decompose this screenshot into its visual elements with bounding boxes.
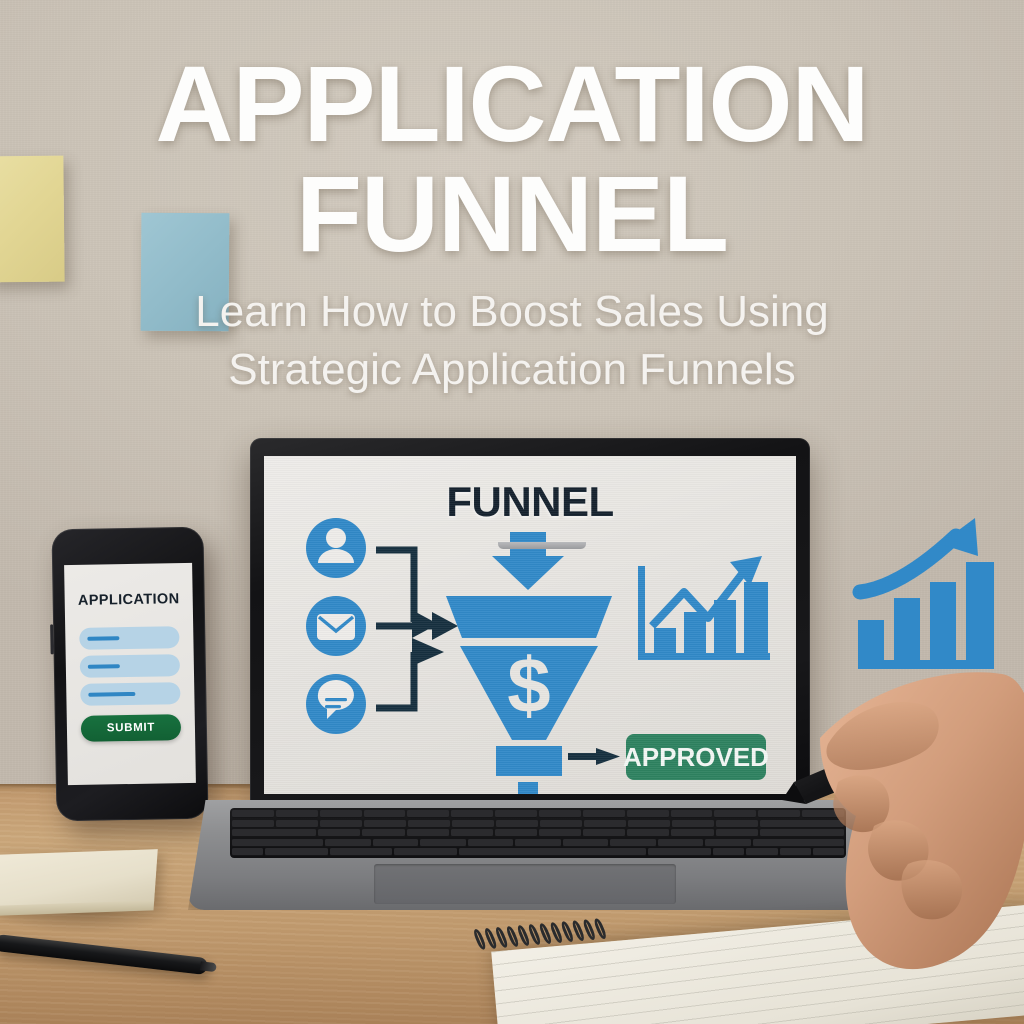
keyboard-row	[232, 820, 844, 828]
hand	[820, 672, 1024, 969]
phone-input-fill-1	[87, 636, 119, 641]
chart-bar-1	[654, 628, 676, 654]
flow-arrowheads	[412, 610, 458, 666]
phone-input-field-3[interactable]	[80, 682, 180, 706]
hand-svg	[776, 666, 1024, 986]
hand-with-stylus	[776, 666, 1024, 986]
sticky-note-blue	[141, 213, 230, 332]
sticky-note-pad	[0, 849, 158, 907]
phone-input-fill-3	[88, 692, 135, 697]
chart-y-axis	[638, 566, 645, 660]
approved-connector	[568, 748, 620, 765]
chart-bar-2	[684, 612, 706, 654]
smartphone[interactable]: APPLICATION SUBMIT	[51, 527, 208, 822]
phone-submit-button[interactable]: SUBMIT	[81, 714, 181, 742]
funnel-inflow-arrow	[492, 532, 564, 590]
wall-chart-bar-2	[894, 598, 920, 664]
phone-screen: APPLICATION SUBMIT	[64, 563, 196, 785]
sticky-note-yellow	[0, 156, 65, 283]
laptop-lid: FUNNEL	[250, 438, 810, 810]
funnel-outflow-arrow	[510, 782, 546, 794]
laptop-screen: FUNNEL	[264, 456, 796, 794]
chart-x-axis	[638, 653, 770, 660]
funnel-top-band	[446, 596, 612, 638]
approved-badge-label: APPROVED	[623, 742, 769, 772]
wall-chart-bar-3	[930, 582, 956, 664]
laptop-front-notch	[498, 542, 586, 549]
laptop-trackpad[interactable]	[374, 864, 676, 904]
funnel-dollar-symbol: $	[507, 641, 550, 729]
poster-scene: APPLICATION FUNNEL Learn How to Boost Sa…	[0, 0, 1024, 1024]
keyboard-row	[232, 848, 844, 856]
keyboard-row	[232, 839, 844, 847]
chart-bar-4	[744, 582, 768, 654]
keyboard-row	[232, 829, 844, 837]
wall-chart-bar-4	[966, 562, 994, 664]
notebook-spiral-binding	[475, 916, 631, 999]
phone-input-fill-2	[88, 664, 120, 669]
laptop-keyboard[interactable]	[230, 808, 846, 858]
phone-side-button[interactable]	[50, 624, 54, 654]
mail-icon	[306, 596, 366, 656]
chat-icon	[306, 674, 366, 734]
keyboard-row	[232, 810, 844, 818]
phone-input-field-1[interactable]	[79, 626, 179, 650]
funnel-spout	[496, 746, 562, 776]
phone-input-field-2[interactable]	[80, 654, 180, 678]
phone-app-title: APPLICATION	[65, 591, 193, 609]
user-icon	[306, 518, 366, 578]
funnel-diagram-svg: $ APPROVED	[264, 456, 796, 794]
approved-badge: APPROVED	[623, 734, 769, 780]
laptop-growth-chart	[638, 556, 770, 660]
